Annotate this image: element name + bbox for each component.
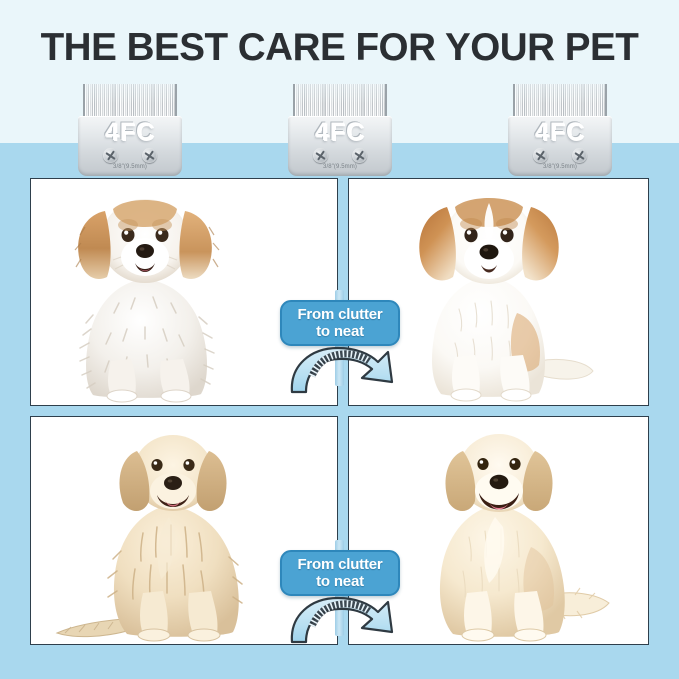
clipper-blade-teeth-edge xyxy=(293,84,387,120)
blade-code-label: 4FC xyxy=(288,118,392,147)
curved-transform-arrow-icon xyxy=(276,342,404,398)
transform-callout-row-2: From clutter to neat xyxy=(280,540,400,648)
page-title: THE BEST CARE FOR YOUR PET xyxy=(3,26,675,70)
blade-code-label: 4FC xyxy=(78,118,182,147)
dog-fluffy-groomed-after xyxy=(389,185,597,403)
product-marketing-image: THE BEST CARE FOR YOUR PET xyxy=(0,0,679,679)
dog-golden-retriever-before xyxy=(51,421,285,643)
blade-size-label: 3/8"(9.5mm) xyxy=(288,164,392,170)
blade-size-label: 3/8"(9.5mm) xyxy=(508,164,612,170)
badge-label: From clutter to neat xyxy=(297,306,382,340)
screw-head-icon-right xyxy=(142,148,157,163)
curved-transform-arrow-icon xyxy=(276,592,404,648)
clipper-blade-2: 4FC 3/8"(9.5mm) xyxy=(288,84,392,176)
screw-head-icon-right xyxy=(572,148,587,163)
screw-head-icon-left xyxy=(103,148,118,163)
dog-shaggy-terrier-before xyxy=(49,183,239,405)
clipper-blade-1: 4FC 3/8"(9.5mm) xyxy=(78,84,182,176)
transform-callout-row-1: From clutter to neat xyxy=(280,290,400,398)
screw-head-icon-left xyxy=(533,148,548,163)
blade-size-label: 3/8"(9.5mm) xyxy=(78,164,182,170)
screw-head-icon-right xyxy=(352,148,367,163)
clipper-blade-teeth-edge xyxy=(513,84,607,120)
status-badge-row-1: From clutter to neat xyxy=(280,300,400,346)
clipper-blade-3: 4FC 3/8"(9.5mm) xyxy=(508,84,612,176)
screw-head-icon-left xyxy=(313,148,328,163)
dog-golden-retriever-after xyxy=(391,421,613,643)
badge-label: From clutter to neat xyxy=(297,556,382,590)
clipper-blade-teeth-edge xyxy=(83,84,177,120)
status-badge-row-2: From clutter to neat xyxy=(280,550,400,596)
blade-code-label: 4FC xyxy=(508,118,612,147)
